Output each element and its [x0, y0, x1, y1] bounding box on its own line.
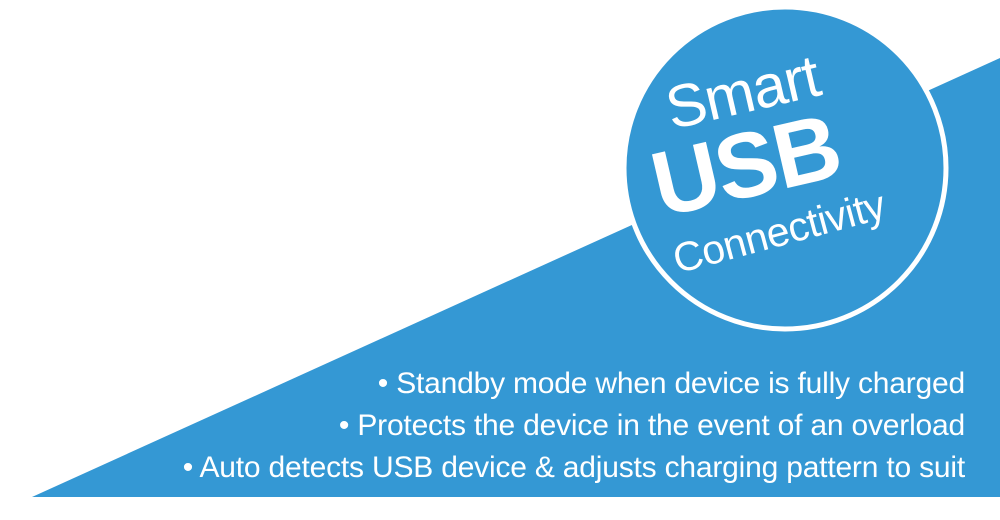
feature-bullet-list: • Standby mode when device is fully char… [35, 363, 965, 489]
feature-bullet-2: • Protects the device in the event of an… [35, 405, 965, 447]
badge-line-connectivity: Connectivity [668, 182, 890, 284]
badge-text-group: Smart USB Connectivity [622, 5, 948, 331]
feature-bullet-3: • Auto detects USB device & adjusts char… [35, 447, 965, 489]
smart-usb-connectivity-graphic: Smart USB Connectivity • Standby mode wh… [0, 0, 1000, 520]
badge-line-usb: USB [642, 94, 849, 239]
feature-bullet-1: • Standby mode when device is fully char… [35, 363, 965, 405]
badge-line-smart: Smart [659, 41, 826, 143]
badge-logo: Smart USB Connectivity [622, 5, 948, 331]
